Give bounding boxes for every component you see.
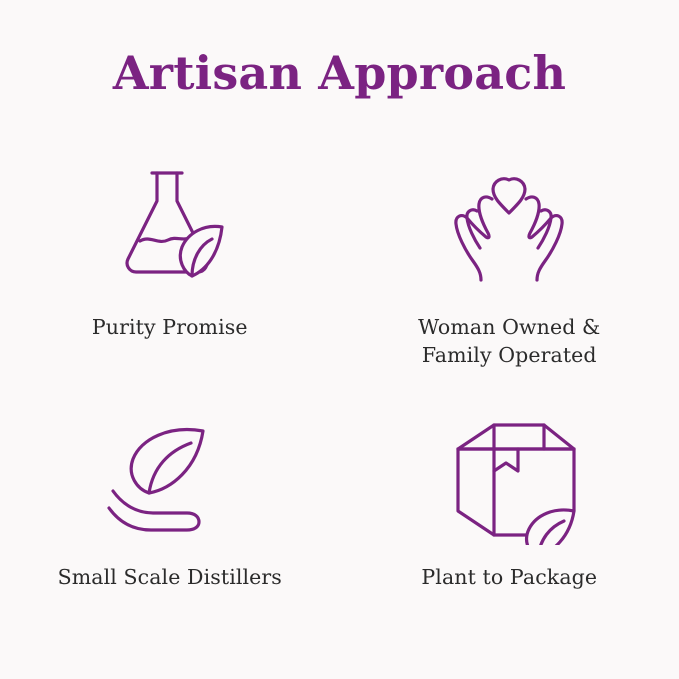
hand-leaf-icon xyxy=(95,415,245,545)
feature-label: Purity Promise xyxy=(92,314,248,342)
box-leaf-icon xyxy=(432,415,587,545)
feature-item-woman-owned: Woman Owned & Family Operated xyxy=(340,150,679,410)
hands-heart-icon xyxy=(429,155,589,295)
feature-label: Plant to Package xyxy=(421,564,597,592)
feature-item-purity-promise: Purity Promise xyxy=(0,150,340,410)
feature-label: Woman Owned & Family Operated xyxy=(418,314,600,369)
artisan-approach-panel: Artisan Approach Purity Promise xyxy=(0,0,679,679)
page-title: Artisan Approach xyxy=(0,46,679,100)
feature-item-plant-to-package: Plant to Package xyxy=(340,410,679,670)
feature-grid: Purity Promise Woman Owned & Family Oper… xyxy=(0,150,679,670)
feature-item-small-scale-distillers: Small Scale Distillers xyxy=(0,410,340,670)
feature-label: Small Scale Distillers xyxy=(58,564,282,592)
flask-leaf-icon xyxy=(100,155,240,295)
hand-leaf-icon-wrapper xyxy=(95,410,245,550)
box-leaf-icon-wrapper xyxy=(432,410,587,550)
hands-heart-icon-wrapper xyxy=(429,150,589,300)
flask-leaf-icon-wrapper xyxy=(100,150,240,300)
